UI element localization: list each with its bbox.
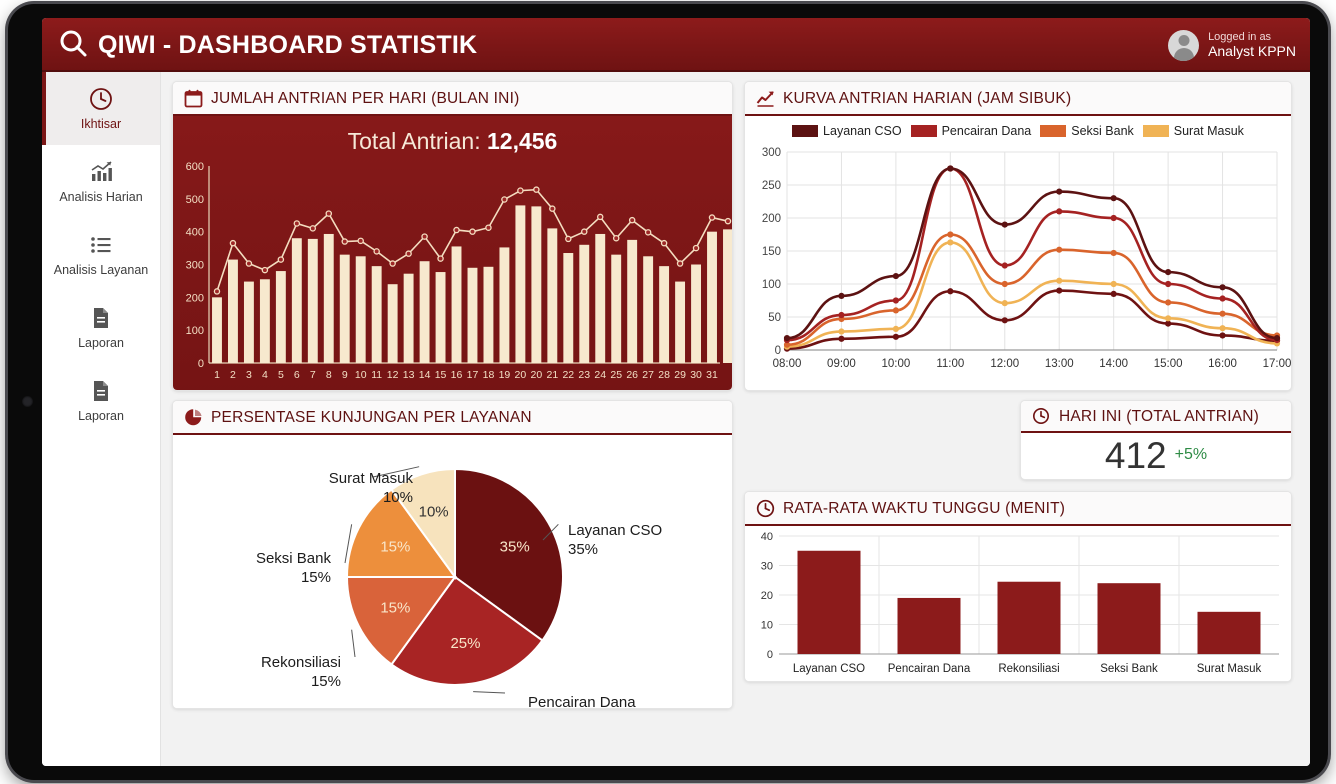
right-column: HARI INI (TOTAL ANTRIAN) 412 +5% xyxy=(744,400,1292,709)
card-title: PERSENTASE KUNJUNGAN PER LAYANAN xyxy=(211,409,532,427)
row-bottom: PERSENTASE KUNJUNGAN PER LAYANAN 35%Laya… xyxy=(172,400,1299,709)
sidebar-item-label: Analisis Layanan xyxy=(54,264,149,278)
svg-text:35%: 35% xyxy=(568,541,598,558)
svg-text:200: 200 xyxy=(186,292,204,304)
svg-text:200: 200 xyxy=(762,213,781,225)
chart-legend: Layanan CSO Pencairan Dana Seksi Bank xyxy=(745,116,1291,140)
svg-text:15%: 15% xyxy=(380,599,410,616)
svg-text:Surat Masuk: Surat Masuk xyxy=(1197,663,1262,675)
svg-text:10:00: 10:00 xyxy=(881,358,910,370)
svg-text:250: 250 xyxy=(762,180,781,192)
svg-text:30: 30 xyxy=(690,369,702,381)
magnifier-q-icon xyxy=(58,28,88,63)
legend-swatch xyxy=(1040,125,1066,137)
svg-text:10: 10 xyxy=(355,369,367,381)
kpi-body: 412 +5% xyxy=(1021,433,1291,477)
svg-text:20: 20 xyxy=(515,369,527,381)
user-menu[interactable]: Logged in as Analyst KPPN xyxy=(1168,30,1296,61)
daily-chart-plot: Total Antrian: 12,456 010020030040050060… xyxy=(173,116,732,391)
svg-text:09:00: 09:00 xyxy=(827,358,856,370)
svg-text:15%: 15% xyxy=(301,569,331,586)
legend-label: Layanan CSO xyxy=(823,124,902,138)
svg-text:300: 300 xyxy=(186,260,204,272)
sidebar: Ikhtisar Analisis Harian xyxy=(42,72,161,766)
sidebar-item-label: Ikhtisar xyxy=(81,118,121,132)
wait-chart-svg: 010203040Layanan CSOPencairan DanaRekons… xyxy=(745,526,1291,682)
clock-icon xyxy=(88,86,114,112)
screen: QIWI - DASHBOARD STATISTIK Logged in as … xyxy=(42,18,1310,766)
body-area: Ikhtisar Analisis Harian xyxy=(42,72,1310,766)
card-daily-queue: JUMLAH ANTRIAN PER HARI (BULAN INI) Tota… xyxy=(172,81,733,391)
svg-text:24: 24 xyxy=(594,369,606,381)
logged-in-label: Logged in as xyxy=(1208,31,1296,44)
svg-text:20: 20 xyxy=(761,590,773,602)
svg-text:17: 17 xyxy=(467,369,479,381)
svg-text:40: 40 xyxy=(761,531,773,543)
legend-item-surat-masuk[interactable]: Surat Masuk xyxy=(1143,124,1244,138)
pie-chart-svg: 35%Layanan CSO35%25%Pencairan Dana25%15%… xyxy=(173,435,732,709)
brand: QIWI - DASHBOARD STATISTIK xyxy=(58,28,477,63)
svg-text:300: 300 xyxy=(762,147,781,159)
page-title: QIWI - DASHBOARD STATISTIK xyxy=(98,31,477,60)
svg-text:Pencairan Dana: Pencairan Dana xyxy=(528,694,636,709)
legend-label: Pencairan Dana xyxy=(942,124,1032,138)
svg-text:10%: 10% xyxy=(383,489,413,506)
svg-text:12: 12 xyxy=(387,369,399,381)
svg-text:Pencairan Dana: Pencairan Dana xyxy=(888,663,971,675)
card-header: HARI INI (TOTAL ANTRIAN) xyxy=(1021,401,1291,433)
sidebar-item-label: Laporan xyxy=(78,410,124,424)
svg-text:20: 20 xyxy=(531,369,543,381)
svg-text:Rekonsiliasi: Rekonsiliasi xyxy=(261,654,341,671)
svg-text:08:00: 08:00 xyxy=(773,358,802,370)
svg-text:100: 100 xyxy=(186,325,204,337)
svg-text:35%: 35% xyxy=(500,539,530,556)
svg-text:15:00: 15:00 xyxy=(1154,358,1183,370)
legend-swatch xyxy=(911,125,937,137)
sidebar-item-label: Analisis Harian xyxy=(59,191,142,205)
legend-swatch xyxy=(1143,125,1169,137)
svg-text:15: 15 xyxy=(435,369,447,381)
svg-text:2: 2 xyxy=(230,369,236,381)
svg-text:Seksi Bank: Seksi Bank xyxy=(1100,663,1158,675)
wait-chart-body: 010203040Layanan CSOPencairan DanaRekons… xyxy=(745,526,1291,682)
svg-text:30: 30 xyxy=(761,561,773,573)
legend-label: Surat Masuk xyxy=(1174,124,1244,138)
sidebar-item-ikhtisar[interactable]: Ikhtisar xyxy=(42,72,160,145)
svg-text:Layanan CSO: Layanan CSO xyxy=(793,663,865,675)
sidebar-item-laporan-1[interactable]: Laporan xyxy=(42,291,160,364)
svg-text:14: 14 xyxy=(419,369,431,381)
card-avg-wait: RATA-RATA WAKTU TUNGGU (MENIT) 010203040… xyxy=(744,491,1292,682)
svg-text:26: 26 xyxy=(626,369,638,381)
svg-text:10: 10 xyxy=(761,620,773,632)
svg-text:16: 16 xyxy=(451,369,463,381)
kpi-value: 412 xyxy=(1105,437,1167,474)
svg-text:6: 6 xyxy=(294,369,300,381)
svg-text:Seksi Bank: Seksi Bank xyxy=(256,550,332,567)
svg-text:Layanan CSO: Layanan CSO xyxy=(568,522,662,539)
document-icon xyxy=(88,305,114,331)
card-hourly-curve: KURVA ANTRIAN HARIAN (JAM SIBUK) Layanan… xyxy=(744,81,1292,391)
clock-icon xyxy=(1032,407,1051,426)
card-header: PERSENTASE KUNJUNGAN PER LAYANAN xyxy=(173,401,732,435)
svg-text:0: 0 xyxy=(775,345,781,357)
legend-label: Seksi Bank xyxy=(1071,124,1134,138)
tablet-device-frame: QIWI - DASHBOARD STATISTIK Logged in as … xyxy=(8,4,1328,780)
svg-text:23: 23 xyxy=(578,369,590,381)
svg-text:28: 28 xyxy=(658,369,670,381)
svg-text:150: 150 xyxy=(762,246,781,258)
card-header: JUMLAH ANTRIAN PER HARI (BULAN INI) xyxy=(173,82,732,116)
legend-item-cso[interactable]: Layanan CSO xyxy=(792,124,902,138)
svg-text:100: 100 xyxy=(762,279,781,291)
svg-text:21: 21 xyxy=(546,369,558,381)
svg-text:22: 22 xyxy=(562,369,574,381)
svg-text:25: 25 xyxy=(610,369,622,381)
svg-text:29: 29 xyxy=(674,369,686,381)
line-chart-icon xyxy=(756,89,775,108)
user-info: Logged in as Analyst KPPN xyxy=(1208,31,1296,60)
avatar xyxy=(1168,30,1199,61)
svg-text:12:00: 12:00 xyxy=(990,358,1019,370)
svg-text:1: 1 xyxy=(214,369,220,381)
svg-text:5: 5 xyxy=(278,369,284,381)
sidebar-item-laporan-2[interactable]: Laporan xyxy=(42,364,160,437)
svg-text:31: 31 xyxy=(706,369,718,381)
camera-icon xyxy=(22,396,33,407)
list-icon xyxy=(88,232,114,258)
svg-text:17:00: 17:00 xyxy=(1263,358,1291,370)
svg-text:11: 11 xyxy=(371,369,382,381)
svg-text:13:00: 13:00 xyxy=(1045,358,1074,370)
svg-text:0: 0 xyxy=(767,649,773,661)
card-service-share: PERSENTASE KUNJUNGAN PER LAYANAN 35%Laya… xyxy=(172,400,733,709)
row-top: JUMLAH ANTRIAN PER HARI (BULAN INI) Tota… xyxy=(172,81,1299,391)
sidebar-item-analisis-harian[interactable]: Analisis Harian xyxy=(42,145,160,218)
curve-chart-svg: 05010015020025030008:0009:0010:0011:0012… xyxy=(745,140,1291,380)
svg-text:4: 4 xyxy=(262,369,268,381)
svg-text:16:00: 16:00 xyxy=(1208,358,1237,370)
svg-text:400: 400 xyxy=(186,227,204,239)
svg-text:13: 13 xyxy=(403,369,415,381)
card-header: KURVA ANTRIAN HARIAN (JAM SIBUK) xyxy=(745,82,1291,116)
sidebar-item-analisis-layanan[interactable]: Analisis Layanan xyxy=(42,218,160,291)
svg-text:50: 50 xyxy=(768,312,781,324)
svg-text:3: 3 xyxy=(246,369,252,381)
clock-icon xyxy=(756,499,775,518)
legend-item-pencairan[interactable]: Pencairan Dana xyxy=(911,124,1032,138)
pie-chart-body: 35%Layanan CSO35%25%Pencairan Dana25%15%… xyxy=(173,435,732,709)
svg-text:11:00: 11:00 xyxy=(936,358,964,370)
svg-text:9: 9 xyxy=(342,369,348,381)
svg-text:25%: 25% xyxy=(450,635,480,652)
svg-text:10%: 10% xyxy=(419,503,449,520)
svg-text:19: 19 xyxy=(499,369,511,381)
curve-chart-body: Layanan CSO Pencairan Dana Seksi Bank xyxy=(745,116,1291,391)
svg-text:15%: 15% xyxy=(380,539,410,556)
svg-text:7: 7 xyxy=(310,369,316,381)
card-title: RATA-RATA WAKTU TUNGGU (MENIT) xyxy=(783,500,1065,518)
svg-text:18: 18 xyxy=(483,369,495,381)
svg-text:Rekonsiliasi: Rekonsiliasi xyxy=(998,663,1059,675)
svg-text:14:00: 14:00 xyxy=(1099,358,1128,370)
sidebar-item-label: Laporan xyxy=(78,337,124,351)
main-content: JUMLAH ANTRIAN PER HARI (BULAN INI) Tota… xyxy=(161,72,1310,766)
card-title: KURVA ANTRIAN HARIAN (JAM SIBUK) xyxy=(783,90,1071,108)
svg-text:8: 8 xyxy=(326,369,332,381)
pie-chart-icon xyxy=(184,408,203,427)
user-name: Analyst KPPN xyxy=(1208,43,1296,59)
svg-text:500: 500 xyxy=(186,194,204,206)
card-title: HARI INI (TOTAL ANTRIAN) xyxy=(1059,408,1259,426)
card-header: RATA-RATA WAKTU TUNGGU (MENIT) xyxy=(745,492,1291,526)
calendar-icon xyxy=(184,89,203,108)
card-title: JUMLAH ANTRIAN PER HARI (BULAN INI) xyxy=(211,90,519,108)
bar-chart-trend-icon xyxy=(88,159,114,185)
status-badge: +5% xyxy=(1175,446,1207,464)
svg-text:600: 600 xyxy=(186,161,204,173)
svg-text:0: 0 xyxy=(198,358,204,370)
svg-text:Surat Masuk: Surat Masuk xyxy=(329,470,414,487)
svg-text:27: 27 xyxy=(642,369,654,381)
legend-swatch xyxy=(792,125,818,137)
daily-chart-svg: 0100200300400500600123456789101112131415… xyxy=(173,116,732,391)
svg-text:15%: 15% xyxy=(311,673,341,690)
card-today-total: HARI INI (TOTAL ANTRIAN) 412 +5% xyxy=(1020,400,1292,480)
legend-item-seksi-bank[interactable]: Seksi Bank xyxy=(1040,124,1134,138)
document-icon xyxy=(88,378,114,404)
app-header: QIWI - DASHBOARD STATISTIK Logged in as … xyxy=(42,18,1310,72)
